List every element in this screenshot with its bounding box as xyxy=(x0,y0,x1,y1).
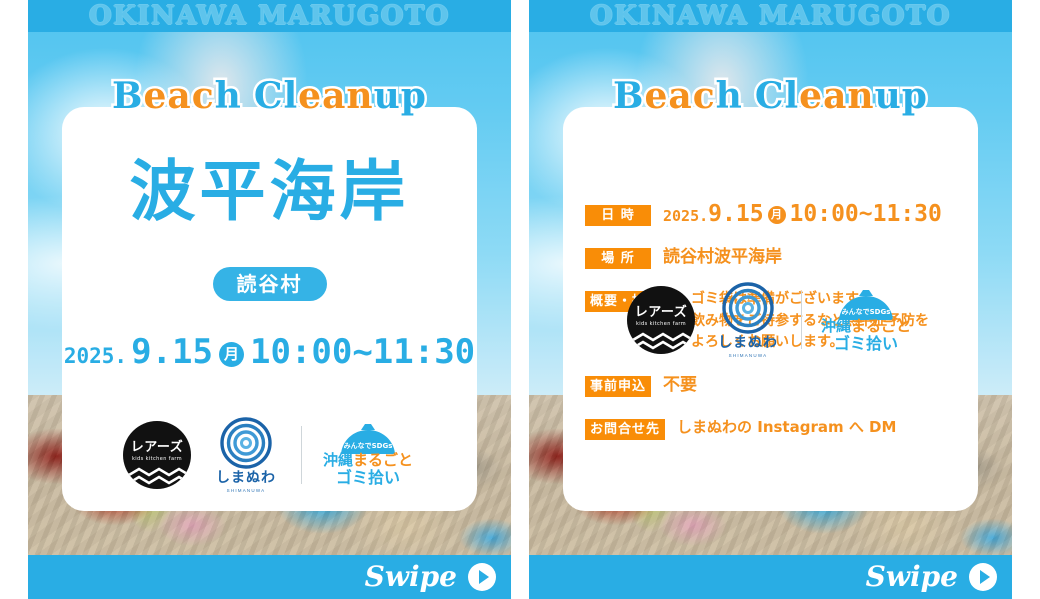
headline-char: a xyxy=(668,75,692,117)
shimanuwa-logo-romaji: SHIMANUWA xyxy=(711,353,785,358)
swipe-bar[interactable]: Swipe xyxy=(529,555,1012,599)
headline-char: a xyxy=(322,75,346,117)
logo-strip: レアーズ kids kitchen farm しまぬわ S xyxy=(563,147,978,493)
datetime-date: 9.15 xyxy=(131,332,213,372)
gomihiroi-logo: みんなでSDGs 沖縄まるごと ゴミ拾い xyxy=(818,289,914,352)
headline-char: p xyxy=(902,75,928,117)
gomihiroi-marugoto: まるごと xyxy=(353,451,413,469)
datetime-dayofweek-badge: 月 xyxy=(219,342,244,367)
headline-char: h xyxy=(215,75,242,117)
headline-char: C xyxy=(755,75,785,117)
play-arrow-icon[interactable] xyxy=(467,562,497,592)
slide-1[interactable]: OKINAWA MARUGOTO BeachCleanup 波平海岸 読谷村 2… xyxy=(28,0,511,599)
shimanuwa-logo: しまぬわ SHIMANUWA xyxy=(711,282,785,358)
slide-2[interactable]: OKINAWA MARUGOTO BeachCleanup レアーズ kids … xyxy=(529,0,1012,599)
village-badge: 読谷村 xyxy=(213,267,327,301)
shimanuwa-logo: しまぬわ SHIMANUWA xyxy=(209,417,283,493)
headline-beach-cleanup: BeachCleanup xyxy=(529,78,1012,114)
headline-char: a xyxy=(823,75,847,117)
svg-text:みんなでSDGs: みんなでSDGs xyxy=(344,441,393,450)
rears-logo-name: レアーズ xyxy=(123,441,191,454)
banner-title: OKINAWA MARUGOTO xyxy=(590,3,951,29)
shimanuwa-logo-name: しまぬわ xyxy=(209,471,283,486)
concentric-rings-icon xyxy=(220,417,272,469)
logo-divider xyxy=(301,426,302,484)
wave-icon xyxy=(123,463,191,485)
headline-char: h xyxy=(716,75,743,117)
top-banner: OKINAWA MARUGOTO xyxy=(529,0,1012,32)
concentric-rings-icon xyxy=(722,282,774,334)
slide-1-card: 波平海岸 読谷村 2025.9.15月10:00~11:30 レアーズ kids… xyxy=(62,107,477,511)
headline-char: e xyxy=(298,75,322,117)
headline-beach-cleanup: BeachCleanup xyxy=(28,78,511,114)
carousel-stage: OKINAWA MARUGOTO BeachCleanup 波平海岸 読谷村 2… xyxy=(0,0,1040,599)
headline-char: l xyxy=(784,75,799,117)
play-arrow-icon[interactable] xyxy=(968,562,998,592)
headline-char: e xyxy=(143,75,167,117)
rears-logo: レアーズ kids kitchen farm xyxy=(627,286,695,354)
gomihiroi-line1: 沖縄まるごと xyxy=(818,319,914,334)
headline-char: n xyxy=(346,75,373,117)
headline-char: B xyxy=(112,75,143,117)
shimanuwa-logo-name: しまぬわ xyxy=(711,336,785,351)
headline-char: u xyxy=(875,75,902,117)
rears-logo-tagline: kids kitchen farm xyxy=(627,322,695,327)
headline-char: B xyxy=(613,75,644,117)
headline-char: u xyxy=(374,75,401,117)
headline-char: p xyxy=(401,75,427,117)
headline-char: c xyxy=(192,75,215,117)
swipe-label: Swipe xyxy=(365,563,457,591)
swipe-label: Swipe xyxy=(866,563,958,591)
slide-2-card: レアーズ kids kitchen farm しまぬわ S xyxy=(563,107,978,511)
top-banner: OKINAWA MARUGOTO xyxy=(28,0,511,32)
rears-logo-tagline: kids kitchen farm xyxy=(123,457,191,462)
headline-char: e xyxy=(799,75,823,117)
gomihiroi-line1: 沖縄まるごと xyxy=(320,453,416,468)
svg-text:みんなでSDGs: みんなでSDGs xyxy=(842,307,891,316)
rears-logo: レアーズ kids kitchen farm xyxy=(123,421,191,489)
headline-char: l xyxy=(283,75,298,117)
gomihiroi-okinawa: 沖縄 xyxy=(821,317,851,335)
datetime-time: 10:00~11:30 xyxy=(250,332,475,372)
gomihiroi-okinawa: 沖縄 xyxy=(323,451,353,469)
shimanuwa-logo-romaji: SHIMANUWA xyxy=(209,488,283,493)
gomihiroi-marugoto: まるごと xyxy=(851,317,911,335)
rears-logo-name: レアーズ xyxy=(627,306,695,319)
logo-strip: レアーズ kids kitchen farm しまぬわ S xyxy=(62,417,477,493)
headline-char: a xyxy=(167,75,191,117)
headline-char: n xyxy=(847,75,874,117)
datetime-line: 2025.9.15月10:00~11:30 xyxy=(62,335,477,369)
gomihiroi-line2: ゴミ拾い xyxy=(818,336,914,352)
place-title: 波平海岸 xyxy=(62,159,477,225)
wave-icon xyxy=(627,328,695,350)
gomihiroi-line2: ゴミ拾い xyxy=(320,470,416,486)
swipe-bar[interactable]: Swipe xyxy=(28,555,511,599)
headline-char: c xyxy=(693,75,716,117)
banner-title: OKINAWA MARUGOTO xyxy=(89,3,450,29)
headline-char: e xyxy=(644,75,668,117)
datetime-year: 2025. xyxy=(64,344,127,368)
headline-char: C xyxy=(254,75,284,117)
gomihiroi-logo: みんなでSDGs 沖縄まるごと ゴミ拾い xyxy=(320,423,416,486)
logo-divider xyxy=(801,291,802,349)
